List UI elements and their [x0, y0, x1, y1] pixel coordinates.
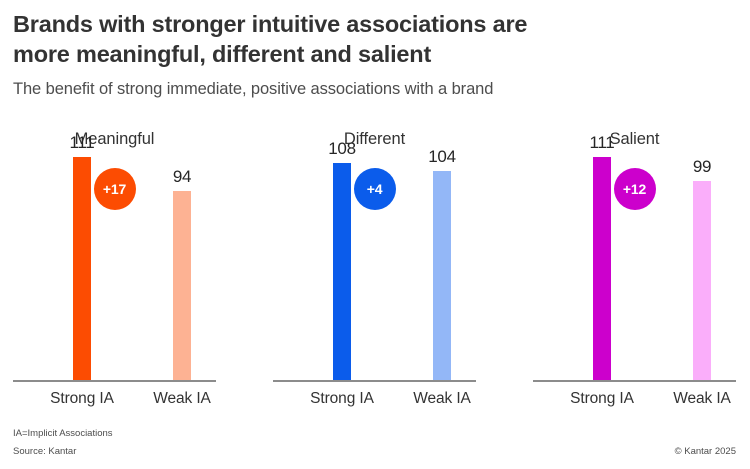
category-label-weak-ia: Weak IA	[140, 390, 224, 408]
bar-value-label: 99	[693, 157, 711, 177]
plot-area: 111 94	[13, 124, 216, 382]
page-title-line-1: Brands with stronger intuitive associati…	[13, 9, 713, 39]
bar-value-label: 111	[590, 133, 615, 153]
category-label-strong-ia: Strong IA	[300, 390, 384, 408]
category-label-strong-ia: Strong IA	[560, 390, 644, 408]
axis-baseline	[13, 380, 216, 382]
bar-weak-ia[interactable]	[173, 191, 191, 380]
bar-chart-groups: Meaningful +17 111 94 Strong IA Weak IA …	[0, 124, 750, 412]
chart-page: Brands with stronger intuitive associati…	[0, 0, 750, 469]
bar-strong-ia[interactable]	[73, 157, 91, 381]
bar-weak-ia[interactable]	[693, 181, 711, 381]
chart-header: Brands with stronger intuitive associati…	[13, 9, 713, 100]
chart-group-salient: Salient +12 111 99 Strong IA Weak IA	[533, 124, 736, 412]
chart-group-different: Different +4 108 104 Strong IA Weak IA	[273, 124, 476, 412]
page-title-line-2: more meaningful, different and salient	[13, 39, 713, 69]
chart-group-meaningful: Meaningful +17 111 94 Strong IA Weak IA	[13, 124, 216, 412]
plot-area: 108 104	[273, 124, 476, 382]
page-subtitle: The benefit of strong immediate, positiv…	[13, 78, 713, 100]
category-label-strong-ia: Strong IA	[40, 390, 124, 408]
bar-value-label: 104	[428, 147, 455, 167]
plot-area: 111 99	[533, 124, 736, 382]
bar-weak-ia[interactable]	[433, 171, 451, 381]
axis-baseline	[273, 380, 476, 382]
bar-value-label: 108	[328, 139, 355, 159]
page-title: Brands with stronger intuitive associati…	[13, 9, 713, 69]
axis-baseline	[533, 380, 736, 382]
bar-value-label: 111	[70, 133, 95, 153]
category-label-weak-ia: Weak IA	[400, 390, 484, 408]
bar-value-label: 94	[173, 167, 191, 187]
category-label-weak-ia: Weak IA	[660, 390, 744, 408]
bar-strong-ia[interactable]	[333, 163, 351, 381]
footnote-definition: IA=Implicit Associations	[13, 428, 113, 439]
bar-strong-ia[interactable]	[593, 157, 611, 381]
copyright-notice: © Kantar 2025	[675, 446, 736, 457]
footnote-source: Source: Kantar	[13, 446, 76, 457]
